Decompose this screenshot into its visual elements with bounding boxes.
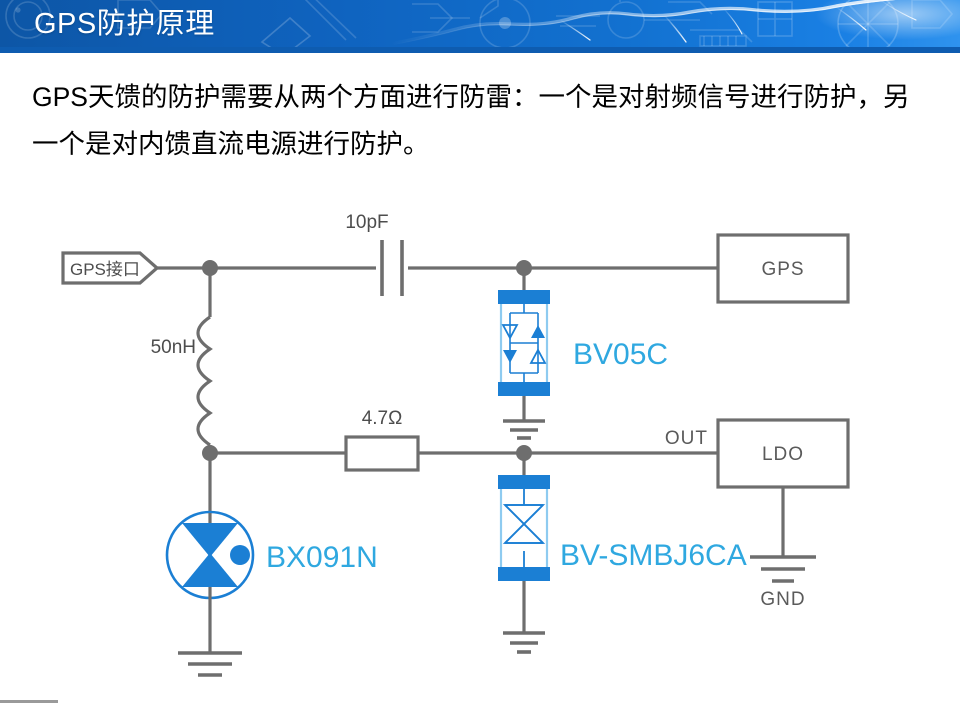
page-title: GPS防护原理 [34,4,215,44]
bv05c-pad-bottom [498,382,550,396]
gps-block-label: GPS [761,259,804,280]
inductor-value-label: 50nH [151,337,196,358]
gps-block: GPS [718,235,848,302]
header-underline [0,47,960,53]
header-banner: GPS防护原理 [0,0,960,47]
smbj-label: BV-SMBJ6CA [560,539,747,572]
out-label: OUT [665,428,708,449]
resistor-4r7: 4.7Ω [346,408,418,470]
component-bx091n: BX091N [167,453,378,675]
bx091n-electrode-bottom [182,553,238,587]
bx091n-electrode-top [182,523,238,557]
component-bv05c: BV05C [498,260,668,438]
ldo-block: LDO [718,420,848,487]
resistor-value-label: 4.7Ω [362,408,403,429]
bottom-divider [0,700,58,703]
bv05c-pad-top [498,290,550,304]
ldo-block-label: LDO [762,444,804,465]
bx091n-gas-dot [230,545,250,565]
gps-port-tag: GPS接口 [63,253,157,283]
gps-port-label: GPS接口 [70,260,140,279]
ldo-ground: GND [750,487,816,610]
capacitor-10pf: 10pF [345,212,402,296]
body-paragraph: GPS天馈的防护需要从两个方面进行防雷：一个是对射频信号进行防护，另一个是对内馈… [32,74,932,168]
smbj-pad-bottom [498,567,550,581]
gnd-label: GND [760,589,805,610]
circuit-diagram: .wire { stroke:#6e6e6e; stroke-width:3.2… [0,195,960,720]
inductor-50nh: 50nH [151,268,210,453]
component-bv-smbj6ca: BV-SMBJ6CA [498,445,747,652]
bx091n-label: BX091N [266,541,378,574]
bv05c-label: BV05C [573,338,668,371]
capacitor-value-label: 10pF [345,212,388,233]
smbj-pad-top [498,475,550,489]
